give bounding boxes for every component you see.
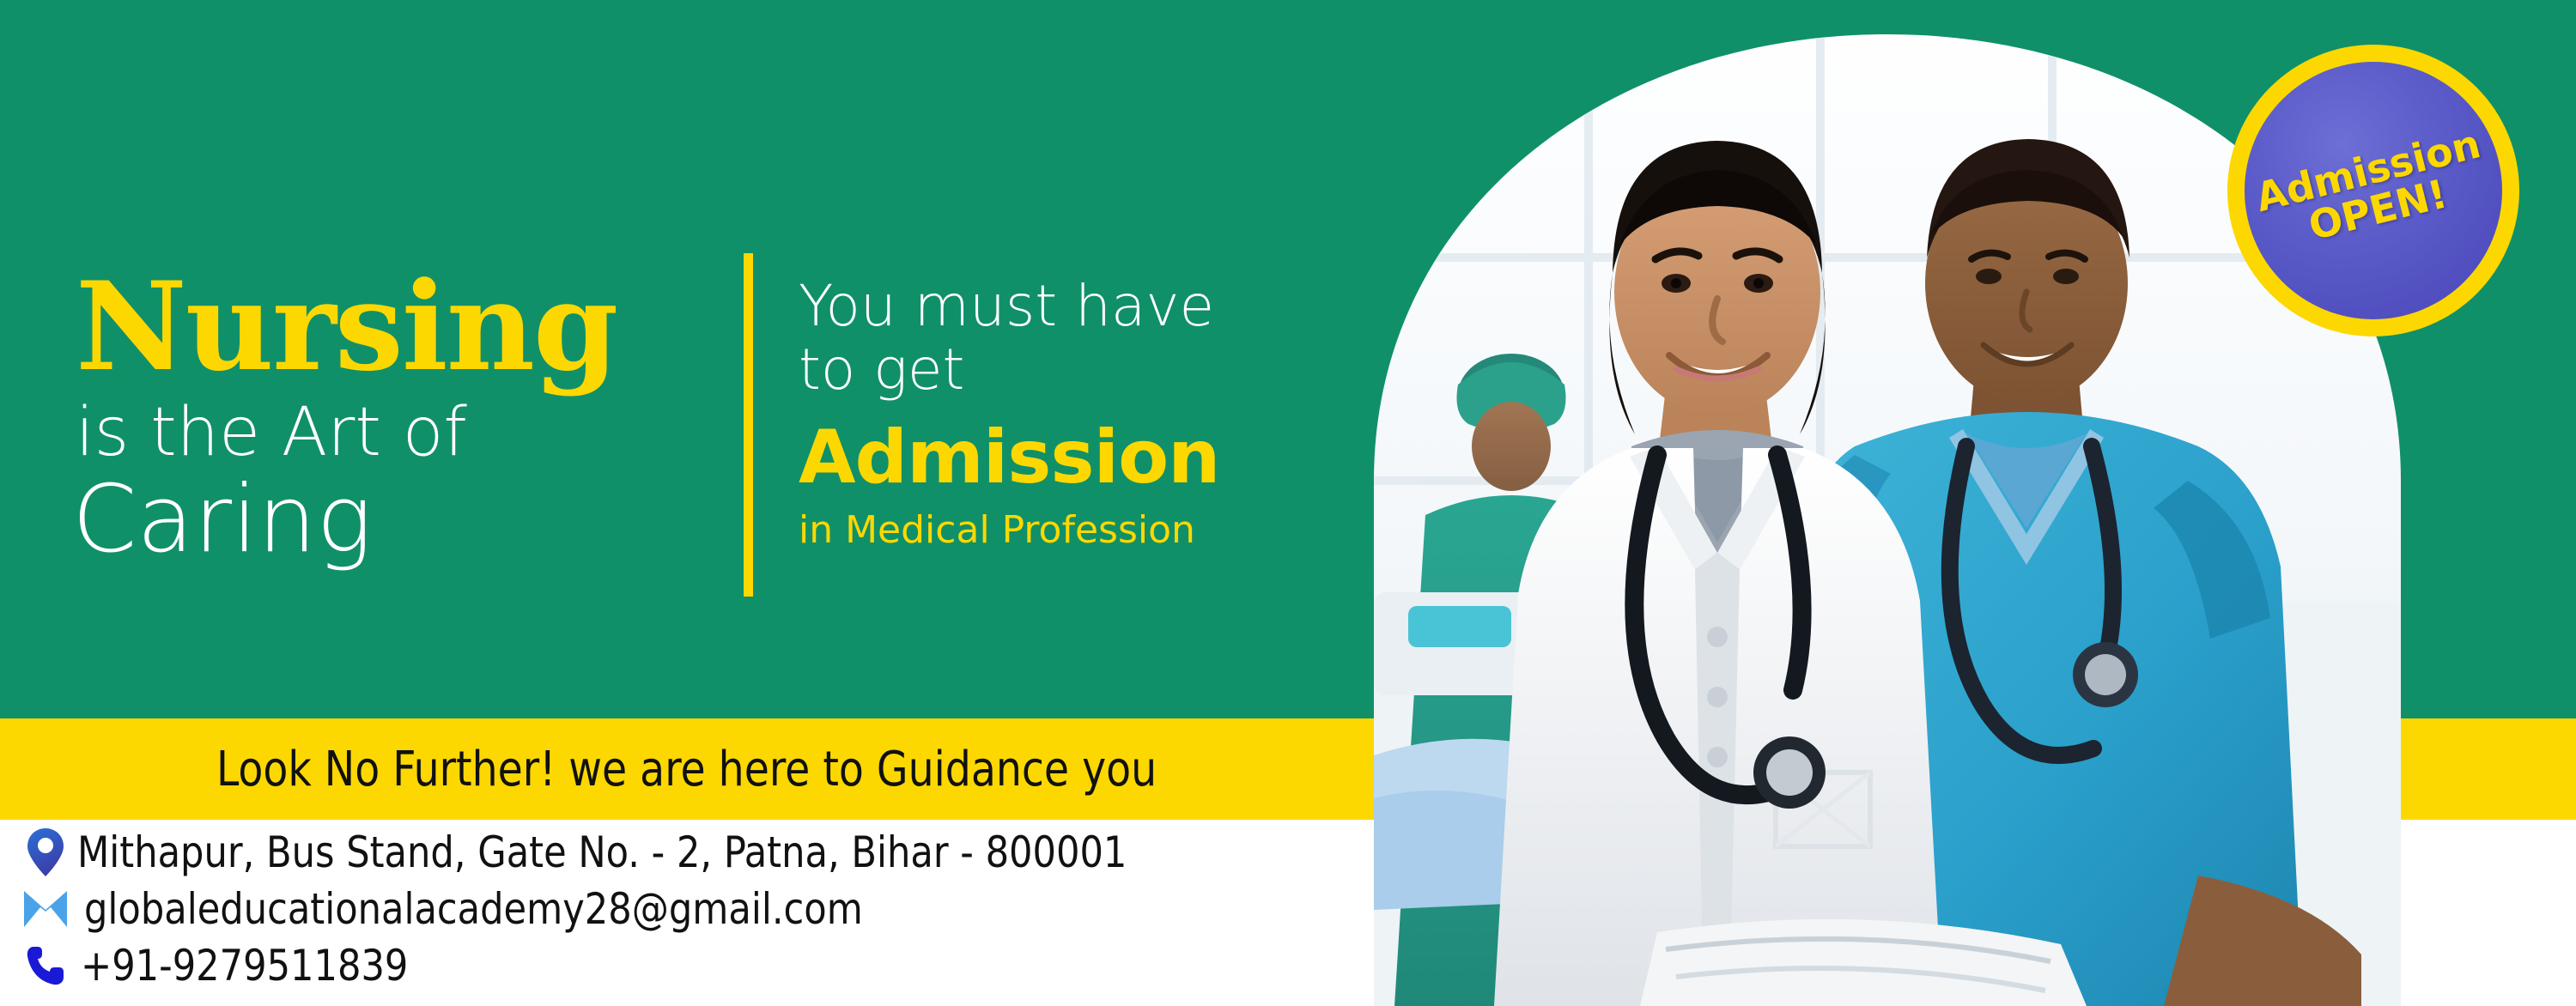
phone-icon	[19, 945, 72, 986]
contact-email-text: globaleducationalacademy28@gmail.com	[84, 884, 863, 934]
contact-address-text: Mithapur, Bus Stand, Gate No. - 2, Patna…	[77, 827, 1127, 877]
headline-caring: Caring	[72, 474, 372, 567]
contact-phone-text: +91-9279511839	[81, 941, 408, 991]
subhead-block: You must have to get Admission in Medica…	[799, 275, 1348, 549]
subhead-admission-highlight: Admission	[799, 421, 1348, 494]
contact-row-email: globaleducationalacademy28@gmail.com	[0, 881, 1374, 937]
contact-row-address: Mithapur, Bus Stand, Gate No. - 2, Patna…	[0, 824, 1374, 881]
admission-open-badge-text: Admission OPEN!	[2252, 124, 2494, 258]
admission-open-badge[interactable]: Admission OPEN!	[2227, 45, 2519, 336]
subhead-line-1: You must have	[799, 275, 1348, 338]
admission-open-badge-inner: Admission OPEN!	[2245, 62, 2502, 319]
contact-block: Mithapur, Bus Stand, Gate No. - 2, Patna…	[0, 824, 1374, 994]
headline-nursing: Nursing	[76, 266, 617, 388]
tagline-container: Look No Further! we are here to Guidance…	[0, 718, 1374, 820]
nursing-admission-banner: Nursing is the Art of Caring You must ha…	[0, 0, 2576, 1006]
headline-is-the-art-of: is the Art of	[76, 399, 467, 466]
tagline-text: Look No Further! we are here to Guidance…	[216, 742, 1157, 797]
subhead-in-medical-profession: in Medical Profession	[799, 512, 1348, 549]
subhead-line-2: to get	[799, 338, 1348, 402]
vertical-divider	[744, 253, 753, 597]
location-pin-icon	[19, 827, 72, 877]
envelope-icon	[19, 891, 72, 927]
contact-row-phone: +91-9279511839	[0, 937, 1374, 994]
headline-block: Nursing is the Art of Caring	[0, 258, 738, 618]
